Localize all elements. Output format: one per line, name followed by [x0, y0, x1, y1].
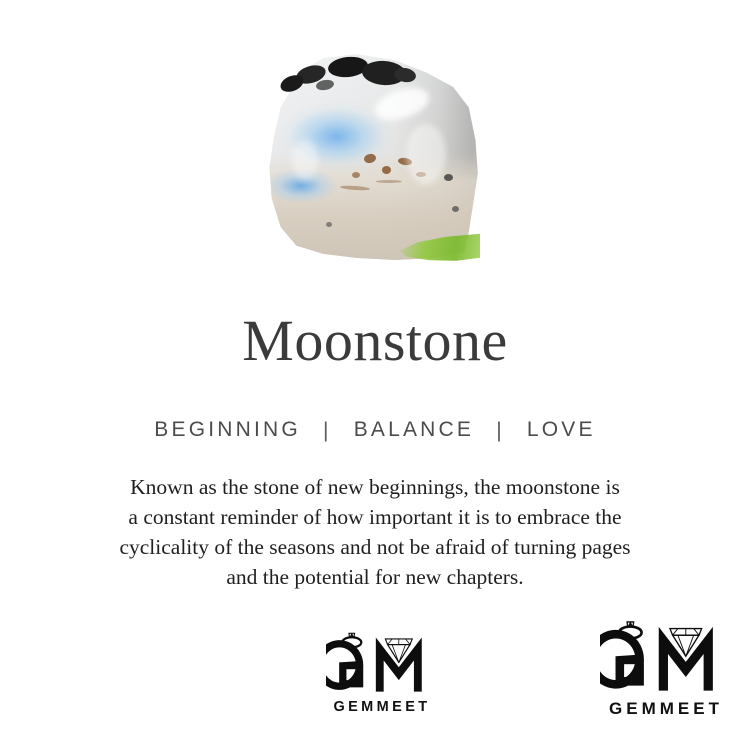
dark-inclusion — [452, 206, 459, 212]
gemmeet-monogram-icon — [600, 618, 732, 697]
keyword-love: LOVE — [527, 418, 596, 441]
keyword-separator: | — [496, 419, 505, 443]
dark-inclusion — [326, 222, 332, 227]
rust-inclusion — [382, 166, 391, 174]
rust-inclusion — [376, 180, 402, 183]
description-line: a constant reminder of how important it … — [28, 502, 722, 532]
moonstone-image — [256, 54, 480, 260]
rust-inclusion — [352, 172, 360, 178]
specular-highlight — [406, 124, 446, 184]
description-line: Known as the stone of new beginnings, th… — [28, 472, 722, 502]
gemmeet-monogram-icon — [326, 630, 438, 697]
gemmeet-wordmark: GEMMEET — [326, 699, 438, 715]
moonstone-info-card: Moonstone BEGINNING | BALANCE | LOVE Kno… — [0, 0, 750, 750]
description-text: Known as the stone of new beginnings, th… — [28, 472, 722, 592]
gemmeet-logo-right: GEMMEET — [600, 618, 732, 719]
keyword-list: BEGINNING | BALANCE | LOVE — [0, 418, 750, 442]
gem-image-area — [0, 28, 750, 278]
keyword-beginning: BEGINNING — [154, 418, 301, 441]
keyword-separator: | — [323, 419, 332, 443]
gemmeet-logo-left: GEMMEET — [326, 630, 438, 715]
keyword-balance: BALANCE — [354, 418, 474, 441]
dark-inclusion — [444, 174, 453, 181]
description-line: and the potential for new chapters. — [28, 562, 722, 592]
page-title: Moonstone — [0, 312, 750, 370]
description-line: cyclicality of the seasons and not be af… — [28, 532, 722, 562]
specular-highlight — [292, 140, 318, 180]
gemmeet-wordmark: GEMMEET — [600, 699, 732, 719]
